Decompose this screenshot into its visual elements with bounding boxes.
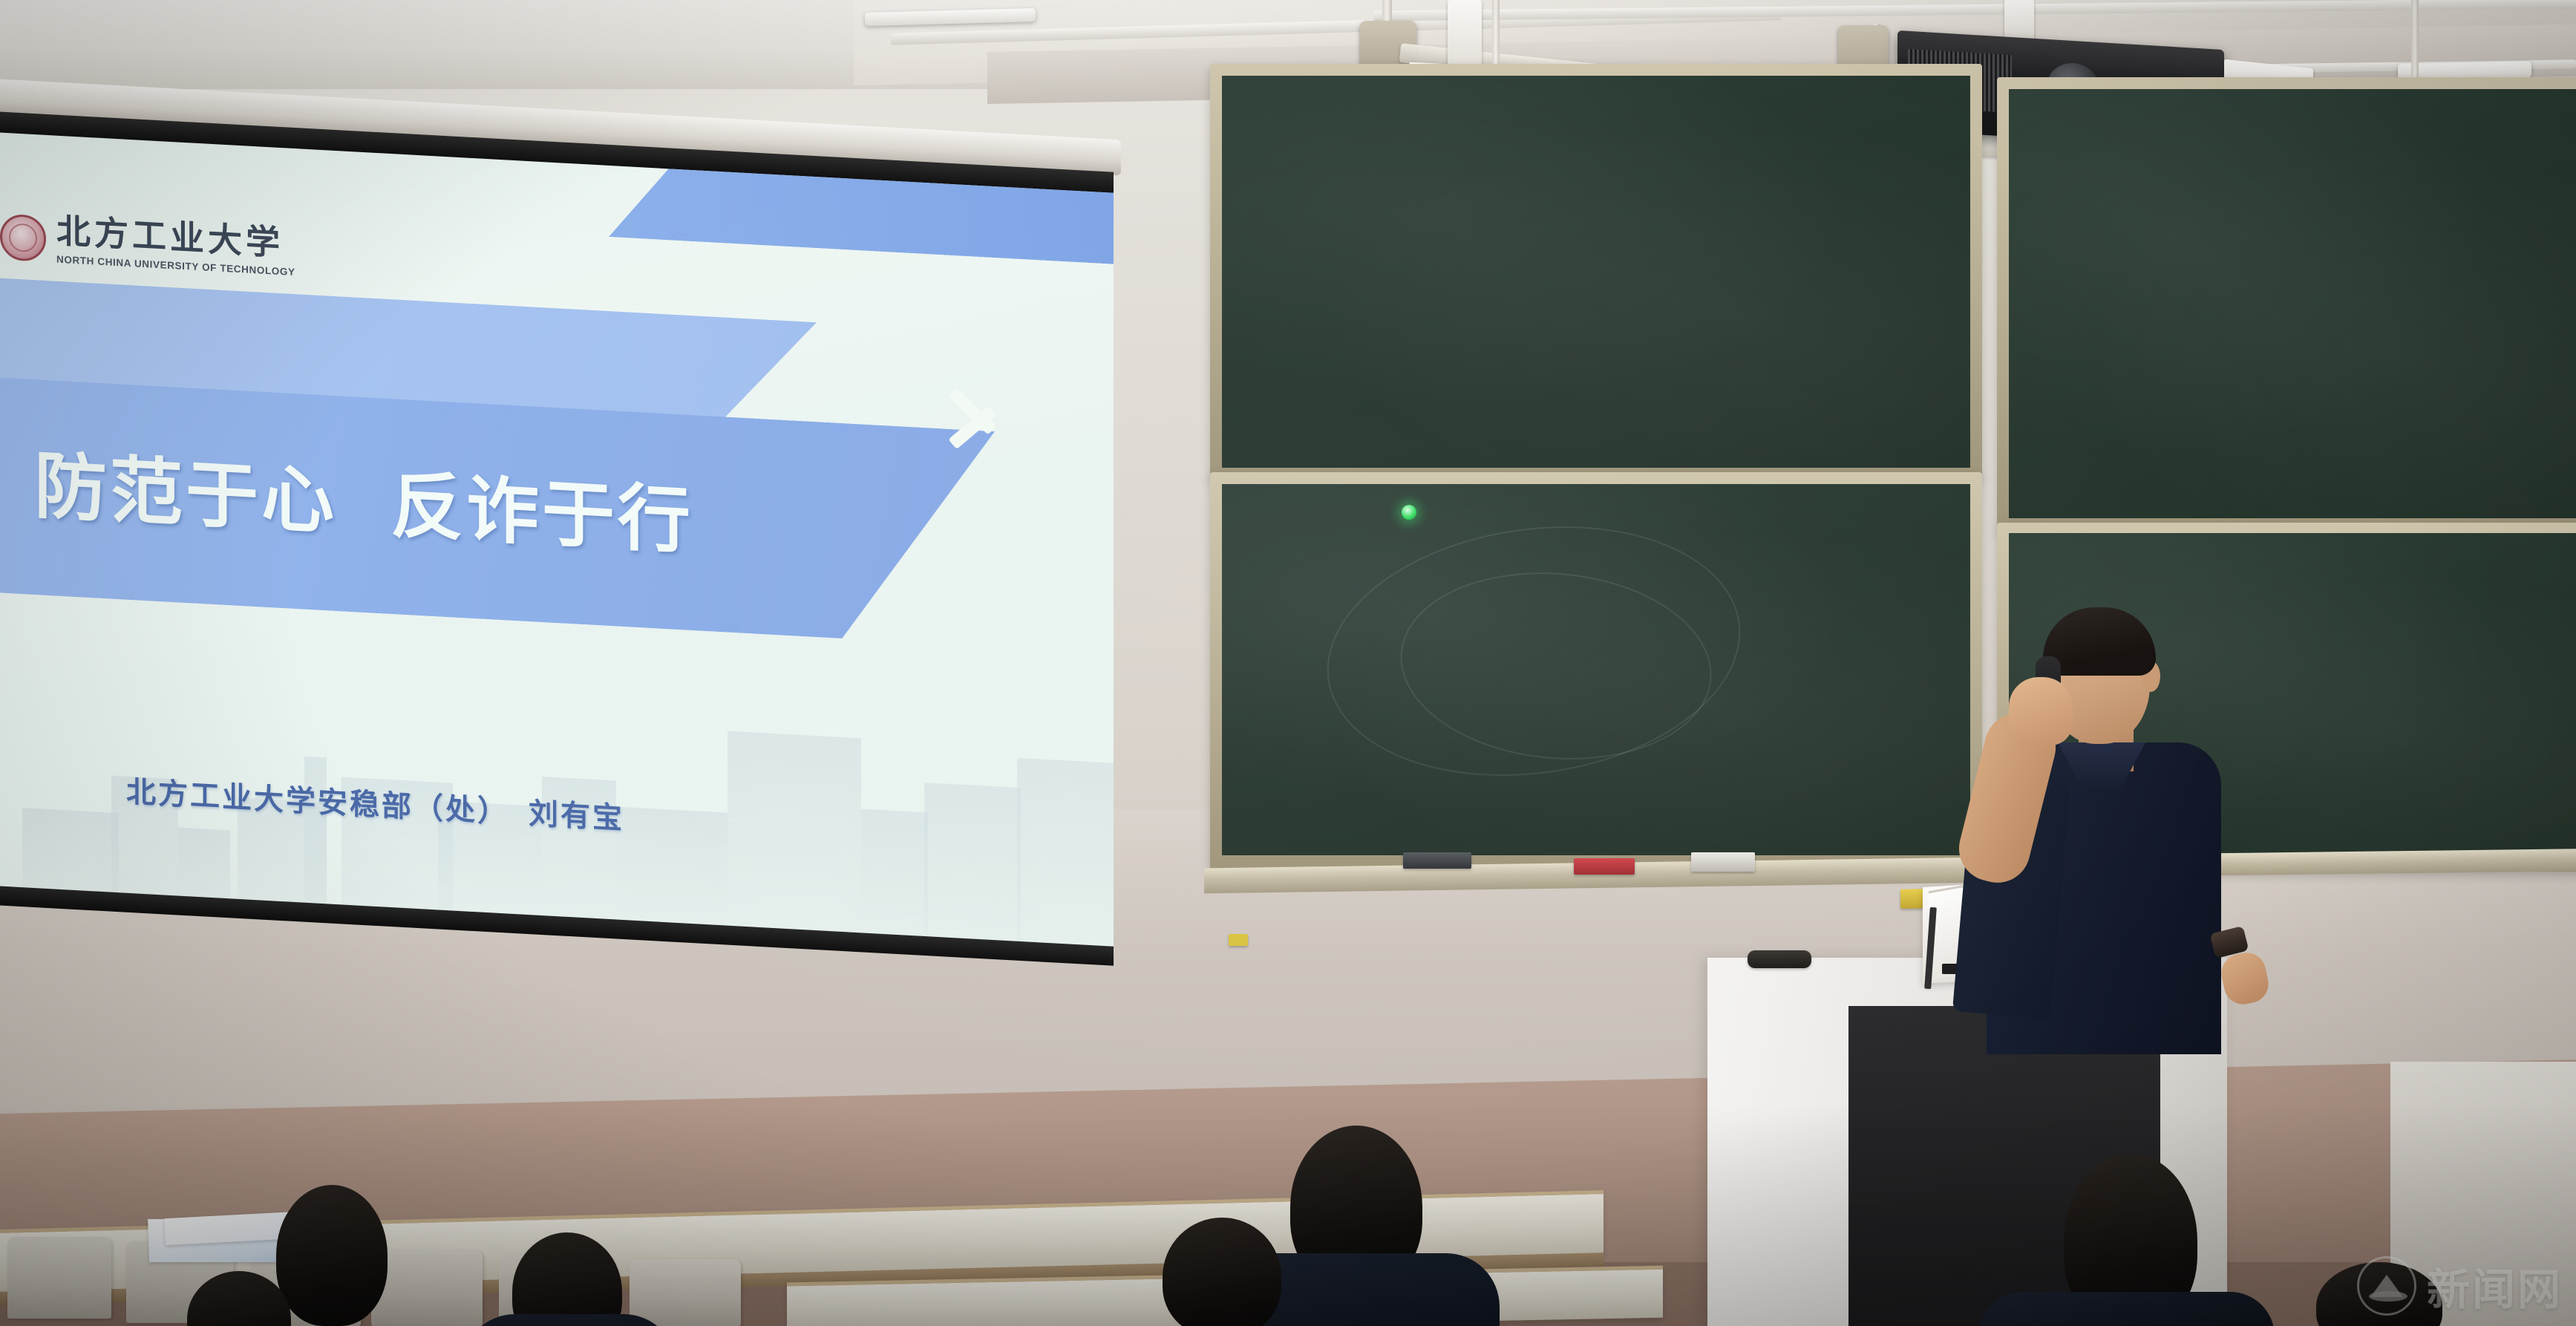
- title-spacer: [337, 527, 390, 530]
- fan-rod-left: [1382, 0, 1392, 22]
- slide-title-right: 反诈于行: [390, 463, 693, 564]
- seat-back-1[interactable]: [7, 1237, 111, 1319]
- lectern-clicker[interactable]: [1748, 950, 1811, 968]
- chevron-right-icon: [947, 370, 1001, 454]
- blackboard-lower-left: [1222, 484, 1970, 855]
- student-head-5: [1163, 1218, 1281, 1326]
- slide-university-logo: 北方工业大学 NORTH CHINA UNIVERSITY OF TECHNOL…: [0, 211, 295, 278]
- lecture-hall-photo: 北方工业大学 NORTH CHINA UNIVERSITY OF TECHNOL…: [0, 0, 2576, 1326]
- subtitle-spacer: [509, 823, 529, 823]
- slide-presenter-name: 刘有宝: [529, 796, 624, 836]
- projection-screen: 北方工业大学 NORTH CHINA UNIVERSITY OF TECHNOL…: [0, 132, 1114, 1010]
- university-seal-icon: [0, 213, 46, 261]
- eraser-red[interactable]: [1574, 858, 1635, 875]
- seat-back-6[interactable]: [630, 1259, 741, 1326]
- chalk-yellow[interactable]: [1229, 934, 1248, 946]
- eraser-white[interactable]: [1691, 852, 1755, 872]
- slide-title-left: 防范于心: [34, 444, 337, 545]
- skyline-building: [178, 828, 230, 901]
- student-head-1: [276, 1185, 388, 1326]
- blackboard-upper-right: [2009, 89, 2576, 518]
- blackboard-upper-left: [1222, 76, 1970, 468]
- skyline-building: [728, 731, 861, 935]
- student-shoulders-6: [1978, 1292, 2275, 1326]
- skyline-building: [1017, 758, 1114, 949]
- skyline-building: [861, 809, 928, 938]
- green-laser-dot: [1402, 505, 1416, 520]
- logo-chinese-name: 北方工业大学: [56, 214, 295, 261]
- seat-back-4[interactable]: [371, 1250, 483, 1326]
- skyline-building: [22, 808, 119, 895]
- skyline-building: [924, 783, 1021, 944]
- eraser-dark[interactable]: [1403, 852, 1471, 869]
- skyline-building: [616, 806, 728, 927]
- presentation-slide: 北方工业大学 NORTH CHINA UNIVERSITY OF TECHNOL…: [0, 132, 1114, 949]
- speaker-hand-holding-mic: [2009, 677, 2073, 745]
